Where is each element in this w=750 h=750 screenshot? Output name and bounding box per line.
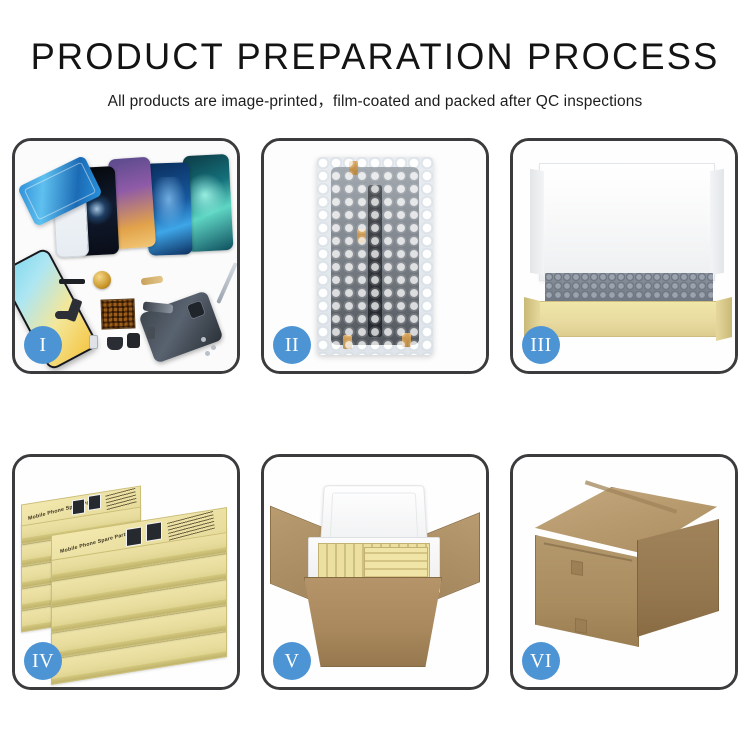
- panel-carton-loading[interactable]: V: [261, 454, 489, 690]
- panel-badge-5: V: [273, 642, 311, 680]
- screw-1: [201, 337, 206, 342]
- gold-component: [93, 271, 111, 289]
- small-connector-part: [147, 327, 155, 339]
- panel-badge-2: II: [273, 326, 311, 364]
- panel-badge-4: IV: [24, 642, 62, 680]
- header: PRODUCT PREPARATION PROCESS All products…: [0, 0, 750, 111]
- flex-cable-1: [59, 279, 85, 284]
- page-title: PRODUCT PREPARATION PROCESS: [8, 38, 743, 77]
- panel-badge-1: I: [24, 326, 62, 364]
- wrapped-flex-strip: [368, 185, 382, 337]
- page-subtitle: All products are image-printed，film-coat…: [0, 89, 750, 111]
- screw-3: [205, 351, 210, 356]
- panel-sealed-carton[interactable]: VI: [510, 454, 738, 690]
- flex-cable-4: [55, 311, 77, 319]
- rear-lid-phone-image-2: [88, 494, 101, 511]
- carton-tape-patch-2: [575, 618, 587, 634]
- panel-bubble-wrap[interactable]: II: [261, 138, 489, 374]
- tape-tab-4: [402, 333, 411, 347]
- bubble-wrapped-package: [317, 157, 433, 355]
- speaker-part: [107, 337, 123, 350]
- panel-phone-parts[interactable]: I: [12, 138, 240, 374]
- white-foam-sheet: [547, 185, 707, 261]
- panel-inner-box[interactable]: III: [510, 138, 738, 374]
- tape-tab-2: [357, 229, 366, 243]
- carton-tape-patch-1: [571, 560, 583, 576]
- camera-module-part: [127, 333, 140, 348]
- front-lid-phone-image-1: [126, 527, 142, 548]
- yellow-box-tray: [535, 301, 721, 337]
- chip-grid-component: [100, 298, 135, 329]
- panel-badge-6: VI: [522, 642, 560, 680]
- rear-lid-phone-image-1: [72, 498, 85, 515]
- carton-body-open: [304, 577, 442, 667]
- rear-lid-text-block: [105, 488, 136, 511]
- panel-stacked-boxes[interactable]: Mobile Phone Spare Parts Mobile Phone Sp…: [12, 454, 240, 690]
- front-lid-phone-image-2: [146, 521, 162, 542]
- screw-2: [211, 345, 216, 350]
- process-panel-grid: I II III: [12, 138, 738, 690]
- sim-tray-part: [89, 335, 98, 349]
- tape-tab-3: [343, 335, 352, 349]
- panel-badge-3: III: [522, 326, 560, 364]
- tape-tab-1: [349, 161, 358, 175]
